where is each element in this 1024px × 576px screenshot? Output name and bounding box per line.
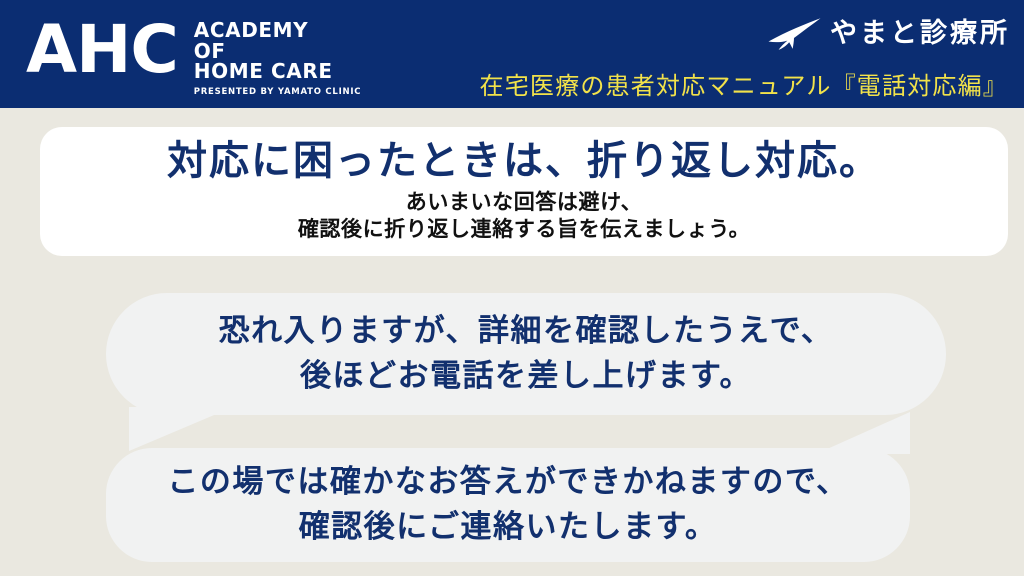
ahc-word-line-3: HOME CARE [194, 61, 361, 82]
speech-bubble-2-text: この場では確かなお答えができかねますので、 確認後にご連絡いたします。 [167, 460, 848, 550]
lead-subtext-line-2: 確認後に折り返し連絡する旨を伝えましょう。 [60, 216, 988, 243]
ahc-logo-mark: AHC [26, 14, 178, 84]
ahc-word-line-1: ACADEMY [194, 20, 361, 41]
lead-subtext-line-1: あいまいな回答は避け、 [60, 189, 988, 216]
header-bar: AHC ACADEMY OF HOME CARE PRESENTED BY YA… [0, 0, 1024, 108]
speech-bubble-2-line-2: 確認後にご連絡いたします。 [167, 505, 848, 550]
lead-heading: 対応に困ったときは、折り返し対応。 [60, 137, 988, 185]
swoosh-paper-plane-icon [766, 17, 822, 51]
ahc-logo-wordmark: ACADEMY OF HOME CARE PRESENTED BY YAMATO… [194, 14, 361, 97]
lead-card: 対応に困ったときは、折り返し対応。 あいまいな回答は避け、 確認後に折り返し連絡… [40, 127, 1008, 256]
slide-root: AHC ACADEMY OF HOME CARE PRESENTED BY YA… [0, 0, 1024, 576]
header-subtitle: 在宅医療の患者対応マニュアル『電話対応編』 [480, 72, 1008, 100]
speech-bubble-2: この場では確かなお答えができかねますので、 確認後にご連絡いたします。 [106, 448, 910, 562]
speech-bubble-1-text: 恐れ入りますが、詳細を確認したうえで、 後ほどお電話を差し上げます。 [219, 309, 834, 399]
ahc-word-line-2: OF [194, 41, 361, 62]
speech-bubble-2-line-1: この場では確かなお答えができかねますので、 [167, 460, 848, 505]
speech-bubble-1-line-1: 恐れ入りますが、詳細を確認したうえで、 [219, 309, 834, 354]
speech-bubble-1-line-2: 後ほどお電話を差し上げます。 [219, 354, 834, 399]
clinic-name: やまと診療所 [830, 19, 1010, 49]
ahc-logo-lockup: AHC ACADEMY OF HOME CARE PRESENTED BY YA… [26, 14, 361, 97]
clinic-logo-lockup: やまと診療所 [766, 17, 1010, 51]
lead-subtext: あいまいな回答は避け、 確認後に折り返し連絡する旨を伝えましょう。 [60, 189, 988, 243]
speech-bubble-1: 恐れ入りますが、詳細を確認したうえで、 後ほどお電話を差し上げます。 [106, 293, 946, 415]
ahc-logo-tagline: PRESENTED BY YAMATO CLINIC [194, 87, 361, 97]
